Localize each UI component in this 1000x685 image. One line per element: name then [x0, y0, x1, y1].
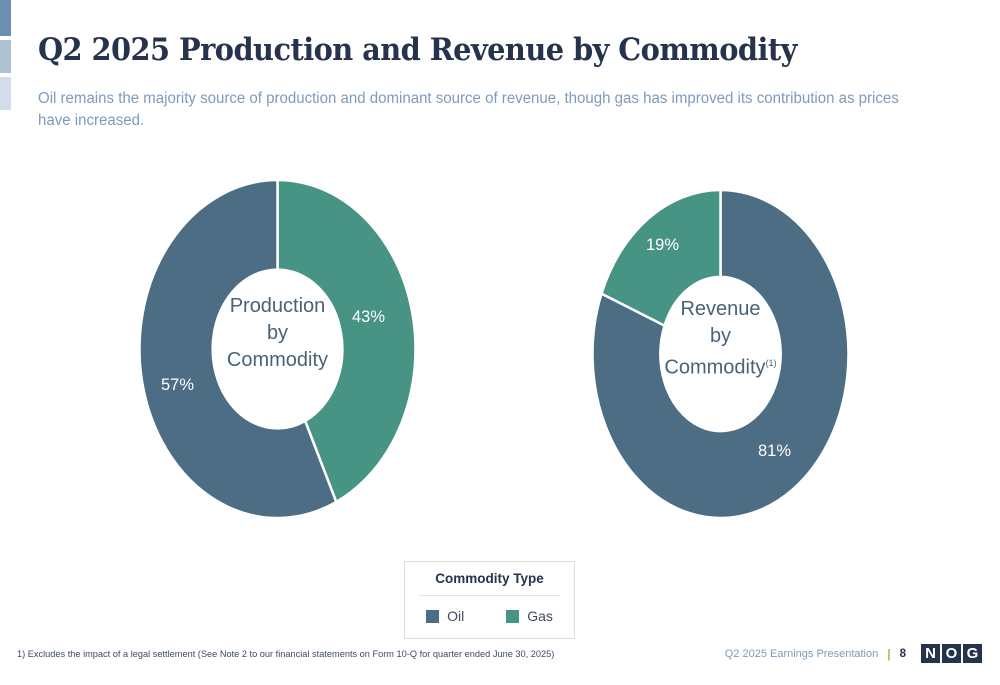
footer-page-number: 8 — [900, 648, 906, 660]
revenue-donut-svg — [592, 190, 849, 520]
donut-chart-revenue: Revenue by Commodity(1) 19% 81% — [592, 190, 849, 520]
logo-letter-g: G — [963, 644, 982, 663]
footer-separator: | — [887, 647, 890, 661]
production-donut-svg — [139, 180, 416, 520]
accent-bar-2 — [0, 40, 11, 73]
slide-canvas: Q2 2025 Production and Revenue by Commod… — [0, 0, 1000, 685]
logo-letter-o: O — [942, 644, 961, 663]
accent-bar-3 — [0, 77, 11, 110]
legend-swatch-oil — [426, 610, 439, 623]
logo-letter-n: N — [921, 644, 940, 663]
chart-legend: Commodity Type Oil Gas — [404, 561, 575, 639]
legend-divider — [419, 595, 560, 596]
legend-label-gas: Gas — [527, 608, 553, 624]
production-label-oil: 57% — [161, 376, 194, 395]
revenue-label-oil: 81% — [758, 442, 791, 461]
legend-title: Commodity Type — [405, 571, 574, 586]
footer-presentation-title: Q2 2025 Earnings Presentation — [725, 648, 879, 660]
page-subtitle: Oil remains the majority source of produ… — [38, 88, 935, 132]
footnote-text: 1) Excludes the impact of a legal settle… — [17, 649, 554, 660]
legend-item-oil[interactable]: Oil — [426, 608, 464, 624]
accent-bar-1 — [0, 0, 11, 36]
legend-swatch-gas — [506, 610, 519, 623]
legend-label-oil: Oil — [447, 608, 464, 624]
production-label-gas: 43% — [352, 308, 385, 327]
donut-chart-production: Production by Commodity 57% 43% — [139, 180, 416, 520]
legend-items: Oil Gas — [405, 608, 574, 624]
page-title: Q2 2025 Production and Revenue by Commod… — [38, 32, 797, 68]
legend-item-gas[interactable]: Gas — [506, 608, 553, 624]
nog-logo: N O G — [921, 644, 982, 663]
footer-right: Q2 2025 Earnings Presentation | 8 N O G — [725, 644, 982, 663]
revenue-label-gas: 19% — [646, 236, 679, 255]
